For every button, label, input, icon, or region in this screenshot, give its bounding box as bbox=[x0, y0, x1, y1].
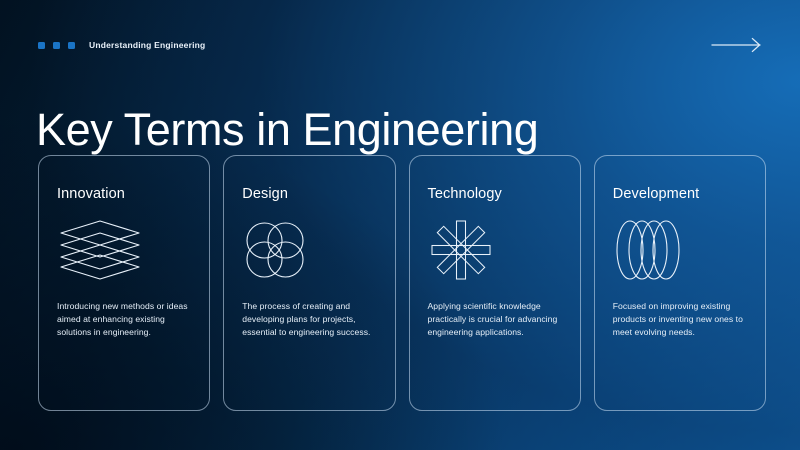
card-technology[interactable]: Technology Applying scientific knowl bbox=[409, 155, 581, 411]
card-description: Focused on improving existing products o… bbox=[613, 300, 747, 340]
overlapping-ellipses-icon bbox=[613, 219, 687, 281]
slide-canvas: Understanding Engineering Key Terms in E… bbox=[0, 0, 800, 450]
card-title: Innovation bbox=[57, 186, 191, 202]
card-innovation[interactable]: Innovation Introducing new methods or id… bbox=[38, 155, 210, 411]
next-slide-button[interactable] bbox=[710, 36, 764, 54]
dot-icon bbox=[38, 42, 45, 49]
card-description: The process of creating and developing p… bbox=[242, 300, 376, 340]
card-icon bbox=[242, 219, 376, 281]
asterisk-burst-icon bbox=[428, 219, 494, 281]
card-design[interactable]: Design The process of creating and devel… bbox=[223, 155, 395, 411]
card-title: Design bbox=[242, 186, 376, 202]
stacked-layers-icon bbox=[57, 219, 143, 281]
card-icon bbox=[428, 219, 562, 281]
eyebrow-label: Understanding Engineering bbox=[89, 40, 205, 50]
dot-icon bbox=[53, 42, 60, 49]
card-development[interactable]: Development Focused on improving existin… bbox=[594, 155, 766, 411]
card-title: Development bbox=[613, 186, 747, 202]
card-icon bbox=[613, 219, 747, 281]
card-description: Applying scientific knowledge practicall… bbox=[428, 300, 562, 340]
page-title: Key Terms in Engineering bbox=[36, 106, 538, 153]
card-description: Introducing new methods or ideas aimed a… bbox=[57, 300, 191, 340]
dot-icon bbox=[68, 42, 75, 49]
card-title: Technology bbox=[428, 186, 562, 202]
arrow-right-icon bbox=[710, 36, 764, 54]
dot-group-icon bbox=[38, 42, 75, 49]
card-grid: Innovation Introducing new methods or id… bbox=[38, 155, 766, 411]
slide-header: Understanding Engineering bbox=[38, 34, 764, 56]
card-icon bbox=[57, 219, 191, 281]
four-overlapping-circles-icon bbox=[242, 219, 308, 281]
